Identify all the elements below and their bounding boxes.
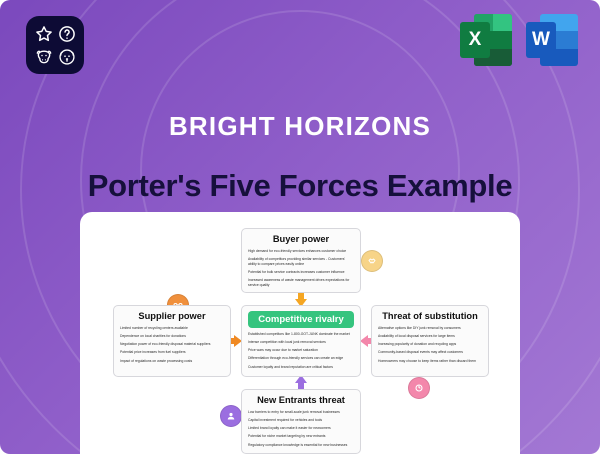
force-item: Potential for niche market targeting by … xyxy=(248,434,354,439)
force-item: High demand for eco-friendly services en… xyxy=(248,249,354,254)
force-item: Established competitors like 1-800-GOT-J… xyxy=(248,332,354,337)
star-icon xyxy=(34,24,54,44)
force-item: Customer loyalty and brand reputation ar… xyxy=(248,365,354,370)
question-circle-icon xyxy=(57,24,77,44)
force-item: Homeowners may choose to keep items rath… xyxy=(378,359,482,364)
slide-canvas: X W BRIGHT HORIZONS Porter's Five Forces… xyxy=(0,0,600,454)
handshake-icon xyxy=(366,255,378,267)
page-title: Porter's Five Forces Example xyxy=(0,168,600,204)
badge-threat-of-substitution xyxy=(408,377,430,399)
force-item: Impact of regulations on waste processin… xyxy=(120,359,224,364)
diagram-card: Buyer power High demand for eco-friendly… xyxy=(80,212,520,454)
force-item: Availability of local disposal services … xyxy=(378,334,482,339)
force-item: Intense competition with local junk remo… xyxy=(248,340,354,345)
force-item: Limited brand loyalty can make it easier… xyxy=(248,426,354,431)
force-title: Threat of substitution xyxy=(378,311,482,321)
force-item: Differentiation through eco-friendly ser… xyxy=(248,356,354,361)
force-item: Availability of competitors providing si… xyxy=(248,257,354,267)
force-box-new-entrants-threat[interactable]: New Entrants threat Low barriers to entr… xyxy=(241,389,361,454)
force-item: Capital investment required for vehicles… xyxy=(248,418,354,423)
force-item: Low barriers to entry for small-scale ju… xyxy=(248,410,354,415)
force-box-threat-of-substitution[interactable]: Threat of substitution Alternative optio… xyxy=(371,305,489,377)
force-item: Alternative options like DIY junk remova… xyxy=(378,326,482,331)
user-icon xyxy=(225,410,237,422)
force-item-list: Established competitors like 1-800-GOT-J… xyxy=(248,332,354,369)
force-box-competitive-rivalry[interactable]: Competitive rivalry Established competit… xyxy=(241,305,361,377)
excel-icon[interactable]: X xyxy=(460,14,512,66)
force-title: Supplier power xyxy=(120,311,224,321)
force-item-list: High demand for eco-friendly services en… xyxy=(248,249,354,288)
force-title: Buyer power xyxy=(248,234,354,244)
force-item: Increasing popularity of donation and re… xyxy=(378,342,482,347)
force-item: Increased awareness of waste management … xyxy=(248,278,354,288)
force-item: Price wars may occur due to market satur… xyxy=(248,348,354,353)
force-item-list: Limited number of recycling centers avai… xyxy=(120,326,224,363)
force-box-supplier-power[interactable]: Supplier power Limited number of recycli… xyxy=(113,305,231,377)
cow-face-icon xyxy=(34,47,54,67)
force-item: Potential price increases from fuel supp… xyxy=(120,350,224,355)
badge-buyer-power xyxy=(361,250,383,272)
force-item: Regulatory compliance knowledge is essen… xyxy=(248,443,354,448)
force-item: Negotiation power of eco-friendly dispos… xyxy=(120,342,224,347)
force-title: New Entrants threat xyxy=(248,395,354,405)
force-item: Limited number of recycling centers avai… xyxy=(120,326,224,331)
dog-face-icon xyxy=(57,47,77,67)
brand-title: BRIGHT HORIZONS xyxy=(0,111,600,142)
force-item: Dependence on local charities for donati… xyxy=(120,334,224,339)
badge-new-entrants-threat xyxy=(220,405,242,427)
recycle-icon xyxy=(413,382,425,394)
bright-horizons-logo[interactable] xyxy=(26,16,84,74)
force-item: Community-based disposal events may affe… xyxy=(378,350,482,355)
office-icons-group: X W xyxy=(460,14,578,66)
force-item-list: Alternative options like DIY junk remova… xyxy=(378,326,482,363)
word-letter: W xyxy=(526,22,556,58)
force-item-list: Low barriers to entry for small-scale ju… xyxy=(248,410,354,447)
force-title: Competitive rivalry xyxy=(248,311,354,328)
force-box-buyer-power[interactable]: Buyer power High demand for eco-friendly… xyxy=(241,228,361,293)
word-icon[interactable]: W xyxy=(526,14,578,66)
excel-letter: X xyxy=(460,22,490,58)
force-item: Potential for bulk service contracts inc… xyxy=(248,270,354,275)
